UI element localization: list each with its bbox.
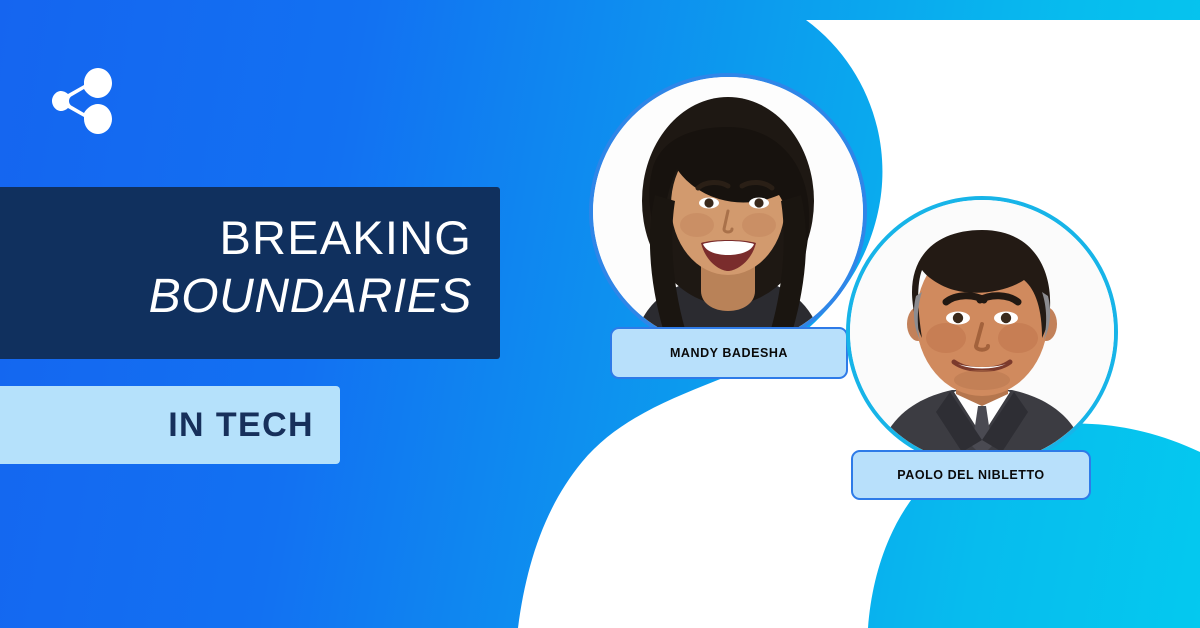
name-badge-label: MANDY BADESHA: [670, 346, 788, 360]
promo-banner: BREAKING BOUNDARIES IN TECH: [0, 0, 1200, 628]
headline-line-1: BREAKING: [0, 209, 472, 267]
avatar-mandy-badesha: [589, 73, 867, 351]
subhead-text: IN TECH: [168, 406, 314, 445]
headline-line-2: BOUNDARIES: [0, 267, 472, 327]
name-badge-paolo-del-nibletto: PAOLO DEL NIBLETTO: [851, 450, 1091, 500]
headline-box: BREAKING BOUNDARIES: [0, 187, 500, 359]
share-nodes-icon: [52, 60, 114, 138]
name-badge-mandy-badesha: MANDY BADESHA: [610, 327, 848, 379]
registered-trademark-symbol: ®: [1101, 73, 1111, 88]
subhead-box: IN TECH: [0, 386, 340, 464]
avatar-paolo-del-nibletto: [846, 196, 1118, 468]
jolera-i-oval-icon: [936, 59, 986, 131]
name-badge-label: PAOLO DEL NIBLETTO: [897, 468, 1044, 482]
portrait-photo-paolo-del-nibletto: [850, 200, 1114, 464]
portrait-photo-mandy-badesha: [593, 77, 863, 347]
jolera-logo: Jolera ®: [935, 55, 1125, 135]
